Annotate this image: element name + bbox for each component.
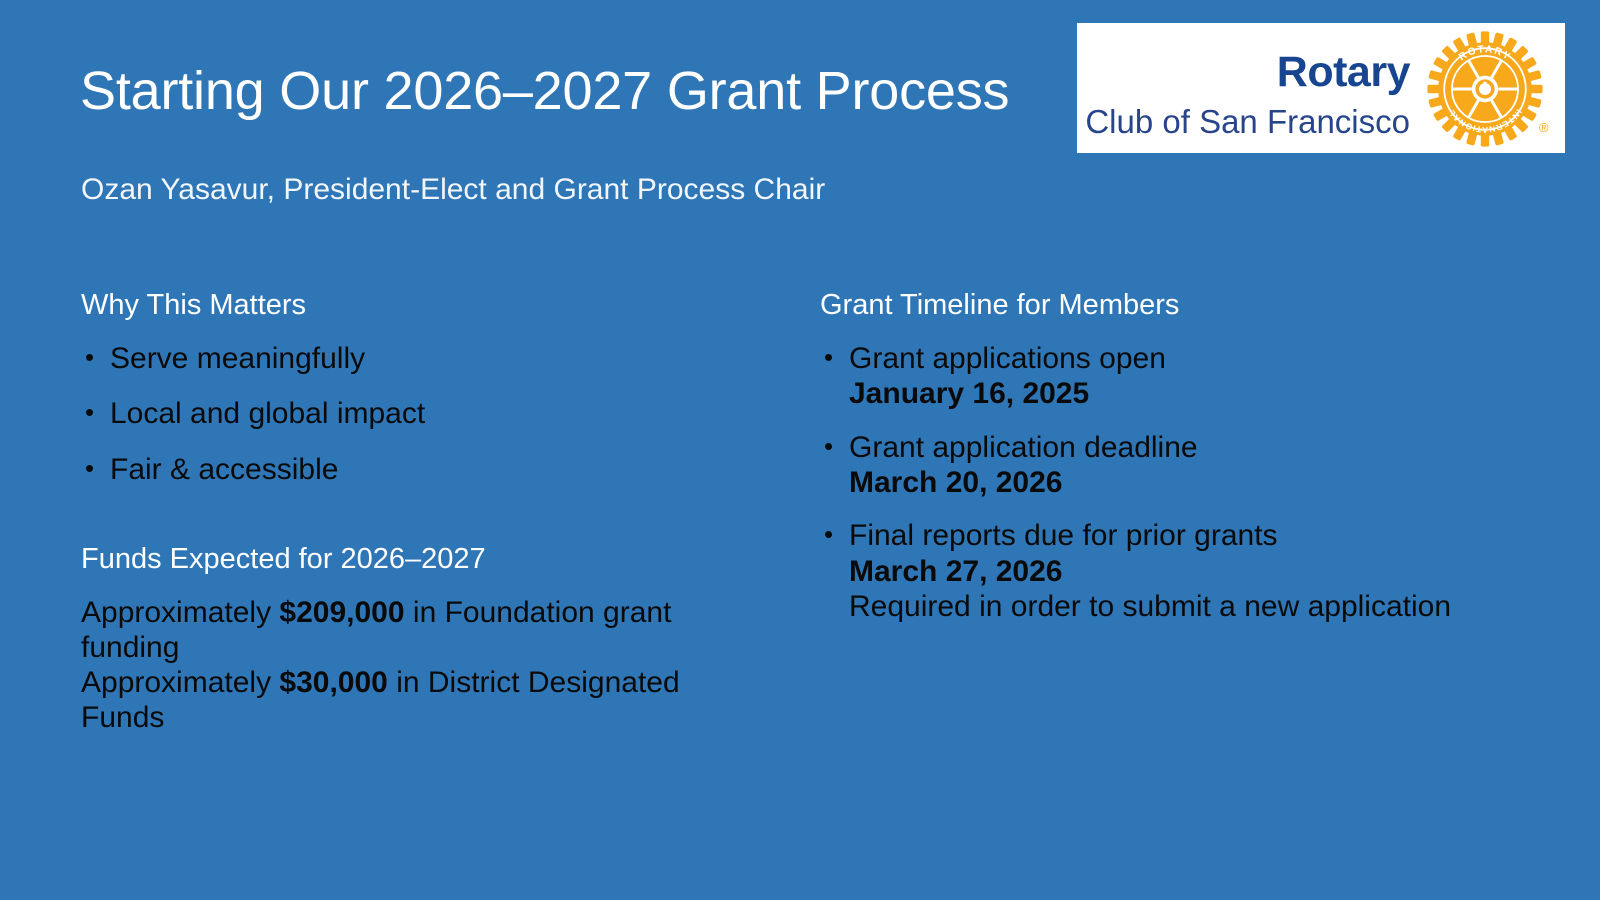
timeline-label: Final reports due for prior grants	[849, 518, 1520, 553]
list-item-label: Local and global impact	[110, 397, 425, 430]
why-this-matters-list: Serve meaningfully Local and global impa…	[81, 341, 741, 487]
funds-line: Approximately $209,000 in Foundation gra…	[81, 595, 721, 665]
rotary-club-text: Club of San Francisco	[1085, 105, 1410, 138]
rotary-logo-text: Rotary Club of San Francisco	[1077, 23, 1422, 153]
list-item: Local and global impact	[81, 396, 741, 431]
timeline-date: March 20, 2026	[849, 465, 1520, 500]
funds-expected-body: Approximately $209,000 in Foundation gra…	[81, 595, 721, 735]
page-subtitle: Ozan Yasavur, President-Elect and Grant …	[81, 172, 825, 208]
rotary-brand-text: Rotary	[1277, 51, 1410, 94]
funds-line-prefix: Approximately	[81, 596, 279, 629]
list-item: Serve meaningfully	[81, 341, 741, 376]
funds-line-prefix: Approximately	[81, 666, 279, 699]
timeline-date: March 27, 2026	[849, 554, 1520, 589]
registered-trademark-icon: ®	[1539, 121, 1549, 134]
funds-expected-section: Funds Expected for 2026–2027 Approximate…	[81, 542, 721, 735]
slide-canvas: Starting Our 2026–2027 Grant Process Oza…	[0, 0, 1600, 900]
why-this-matters-heading: Why This Matters	[81, 288, 741, 323]
timeline-label: Grant applications open	[849, 341, 1520, 376]
rotary-wheel-icon: ROTARY INTERNATIONAL	[1425, 29, 1545, 149]
grant-timeline-list: Grant applications open January 16, 2025…	[820, 341, 1520, 625]
funds-line-amount: $209,000	[279, 596, 404, 629]
list-item: Grant applications open January 16, 2025	[820, 341, 1520, 412]
timeline-note: Required in order to submit a new applic…	[849, 589, 1520, 624]
grant-timeline-section: Grant Timeline for Members Grant applica…	[820, 288, 1520, 643]
list-item-label: Serve meaningfully	[110, 342, 365, 375]
list-item: Fair & accessible	[81, 452, 741, 487]
page-title: Starting Our 2026–2027 Grant Process	[80, 62, 1009, 120]
funds-expected-heading: Funds Expected for 2026–2027	[81, 542, 721, 577]
list-item: Grant application deadline March 20, 202…	[820, 430, 1520, 501]
rotary-logo-box: Rotary Club of San Francisco	[1077, 23, 1565, 153]
funds-line: Approximately $30,000 in District Design…	[81, 665, 721, 735]
list-item: Final reports due for prior grants March…	[820, 518, 1520, 624]
grant-timeline-heading: Grant Timeline for Members	[820, 288, 1520, 323]
funds-line-amount: $30,000	[279, 666, 387, 699]
why-this-matters-section: Why This Matters Serve meaningfully Loca…	[81, 288, 741, 507]
list-item-label: Fair & accessible	[110, 453, 338, 486]
timeline-label: Grant application deadline	[849, 430, 1520, 465]
timeline-date: January 16, 2025	[849, 376, 1520, 411]
